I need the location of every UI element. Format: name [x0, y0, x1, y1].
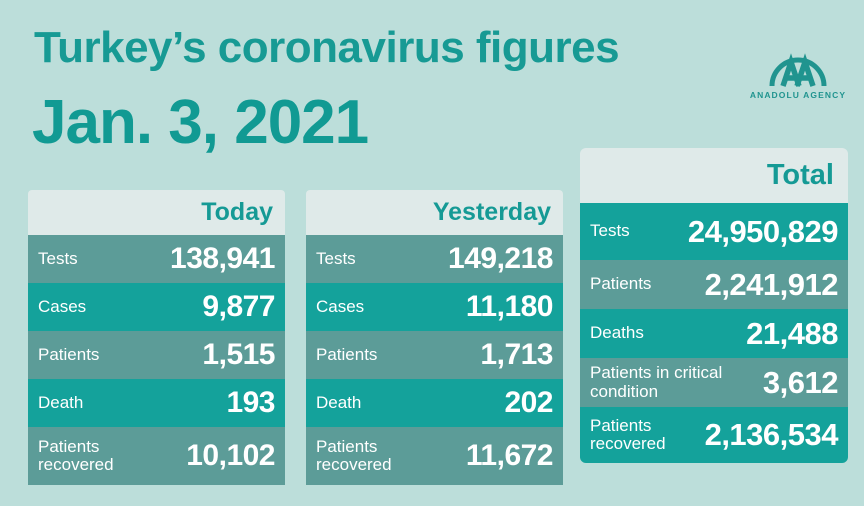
stat-label: Patients in critical condition [590, 364, 722, 401]
stats-column-yesterday: Yesterday Tests 149,218 Cases 11,180 Pat… [306, 190, 563, 485]
stat-label: Death [316, 394, 361, 412]
stat-row-tests: Tests 149,218 [306, 235, 563, 283]
stat-row-patients: Patients 1,515 [28, 331, 285, 379]
stat-label: Patients [316, 346, 377, 364]
stat-label: Death [38, 394, 83, 412]
stat-row-patients: Patients 2,241,912 [580, 260, 848, 309]
stats-column-total: Total Tests 24,950,829 Patients 2,241,91… [580, 148, 848, 463]
stat-value: 3,612 [722, 365, 838, 401]
stat-label: Deaths [590, 324, 644, 342]
anadolu-agency-logo: ANADOLU AGENCY [746, 38, 850, 110]
column-header-total: Total [580, 148, 848, 203]
anadolu-agency-arch-icon [766, 38, 830, 88]
stat-value: 21,488 [644, 316, 838, 352]
stat-row-death: Death 202 [306, 379, 563, 427]
stat-value: 11,672 [392, 439, 553, 473]
stats-column-today: Today Tests 138,941 Cases 9,877 Patients… [28, 190, 285, 485]
stat-value: 202 [361, 386, 553, 420]
report-date: Jan. 3, 2021 [32, 92, 368, 154]
stat-row-cases: Cases 11,180 [306, 283, 563, 331]
stat-value: 11,180 [364, 290, 553, 324]
stats-rows-today: Tests 138,941 Cases 9,877 Patients 1,515… [28, 235, 285, 485]
stat-row-deaths: Deaths 21,488 [580, 309, 848, 358]
stat-value: 2,241,912 [651, 267, 838, 303]
stat-label: Cases [316, 298, 364, 316]
stat-row-patients: Patients 1,713 [306, 331, 563, 379]
column-header-today: Today [28, 190, 285, 235]
stat-label: Patients [590, 275, 651, 293]
stat-label: Tests [38, 250, 78, 268]
stat-label: Tests [590, 222, 630, 240]
stat-value: 1,713 [377, 338, 553, 372]
stat-value: 138,941 [78, 242, 275, 276]
stat-row-patients-recovered: Patients recovered 11,672 [306, 427, 563, 485]
stat-row-tests: Tests 24,950,829 [580, 203, 848, 260]
stat-row-patients-recovered: Patients recovered 2,136,534 [580, 407, 848, 463]
stat-row-cases: Cases 9,877 [28, 283, 285, 331]
stat-row-tests: Tests 138,941 [28, 235, 285, 283]
stat-value: 24,950,829 [630, 214, 838, 250]
stat-label: Patients recovered [590, 417, 666, 454]
stat-label: Tests [316, 250, 356, 268]
stats-rows-total: Tests 24,950,829 Patients 2,241,912 Deat… [580, 203, 848, 463]
stat-value: 9,877 [86, 290, 275, 324]
column-header-yesterday: Yesterday [306, 190, 563, 235]
stats-rows-yesterday: Tests 149,218 Cases 11,180 Patients 1,71… [306, 235, 563, 485]
stat-row-death: Death 193 [28, 379, 285, 427]
stat-value: 149,218 [356, 242, 553, 276]
stat-value: 193 [83, 386, 275, 420]
stat-row-patients-critical: Patients in critical condition 3,612 [580, 358, 848, 407]
stat-label: Patients recovered [38, 438, 114, 475]
stat-label: Patients recovered [316, 438, 392, 475]
stat-value: 1,515 [99, 338, 275, 372]
page-title: Turkey’s coronavirus figures [34, 26, 619, 70]
logo-wordmark: ANADOLU AGENCY [746, 90, 850, 100]
stat-value: 10,102 [114, 439, 275, 473]
stat-row-patients-recovered: Patients recovered 10,102 [28, 427, 285, 485]
stat-value: 2,136,534 [666, 417, 838, 453]
stat-label: Cases [38, 298, 86, 316]
stat-label: Patients [38, 346, 99, 364]
